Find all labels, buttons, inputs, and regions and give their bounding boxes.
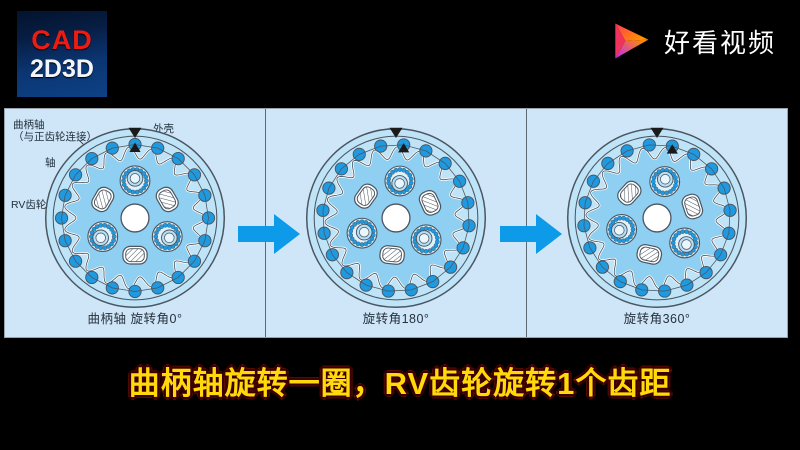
haokan-brand-text: 好看视频 [664, 23, 776, 60]
step-arrow-1-icon [238, 213, 300, 255]
cad2d3d-logo: CAD 2D3D [17, 11, 107, 97]
panel-360deg: 旋转角360° [526, 109, 787, 337]
panel-caption-180deg: 旋转角180° [266, 308, 526, 327]
panel-0deg: 曲柄轴 （与正齿轮连接） 轴 RV齿轮 外壳 销 曲柄轴 旋转角0° [5, 109, 265, 337]
cad-logo-line1: CAD [31, 27, 93, 54]
panel-180deg: 旋转角180° [265, 109, 526, 337]
subtitle-caption: 曲柄轴旋转一圈，RV齿轮旋转1个齿距 [0, 358, 800, 403]
play-triangle-icon [607, 18, 653, 64]
rv-gear-diagram-180deg [303, 125, 489, 311]
panel-caption-0deg: 曲柄轴 旋转角0° [5, 308, 265, 327]
cad-logo-line2: 2D3D [30, 57, 94, 82]
video-frame: CAD 2D3D 好看视频 [0, 0, 800, 450]
rv-gear-diagram-360deg [564, 125, 750, 311]
rv-gear-diagram-0deg [42, 125, 228, 311]
rv-reducer-figure: 曲柄轴 （与正齿轮连接） 轴 RV齿轮 外壳 销 曲柄轴 旋转角0° 旋转角18… [4, 108, 788, 338]
step-arrow-2-icon [500, 213, 562, 255]
panel-caption-360deg: 旋转角360° [527, 308, 787, 327]
haokan-video-logo: 好看视频 [607, 18, 776, 64]
